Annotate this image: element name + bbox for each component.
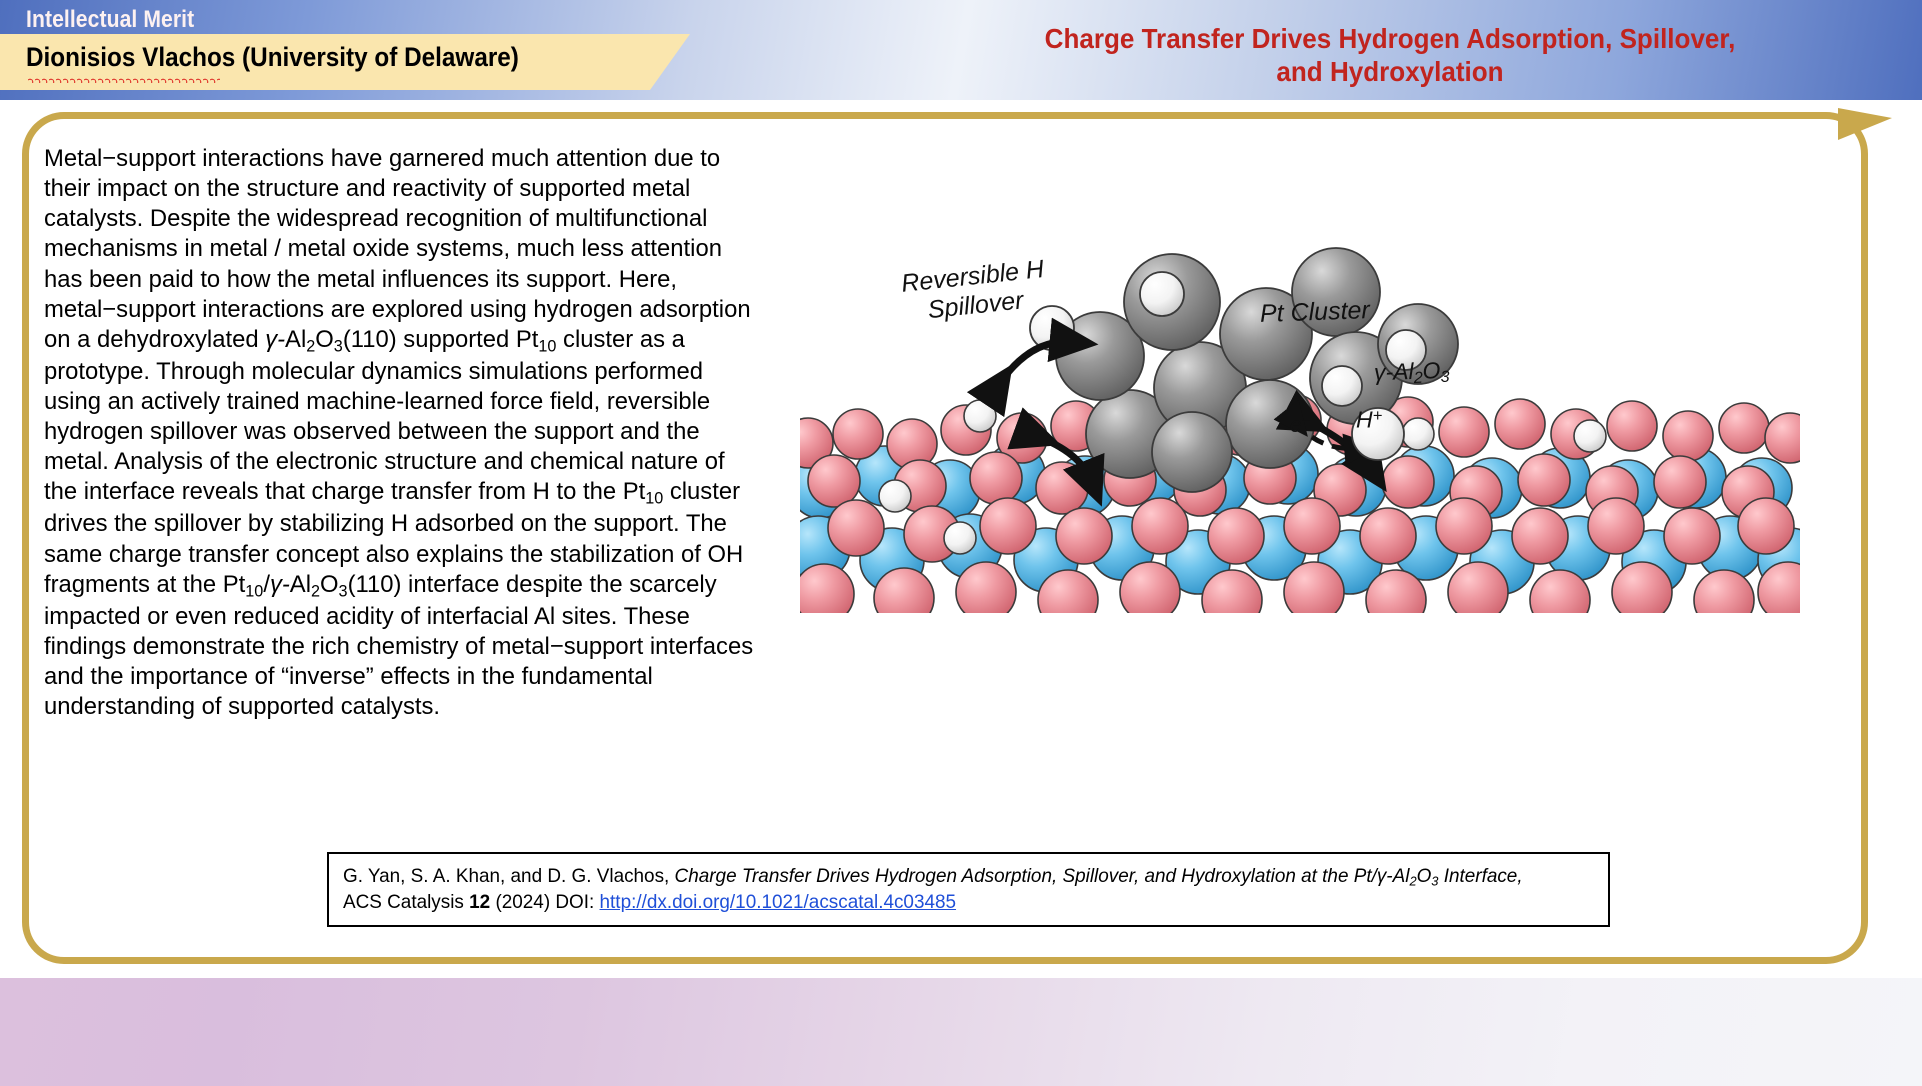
page-title-line-2: and Hydroxylation <box>1276 56 1503 87</box>
abstract-gamma-1: γ- <box>265 326 285 353</box>
doi-link[interactable]: http://dx.doi.org/10.1021/acscatal.4c034… <box>600 891 956 913</box>
citation-volume: 12 <box>469 891 490 913</box>
citation-title-o: O <box>1417 865 1432 887</box>
citation-title-b: Interface, <box>1438 865 1522 887</box>
citation-year: (2024) DOI: <box>490 891 599 913</box>
abstract-o-2: O <box>320 571 339 598</box>
abstract-o-sub-2: 3 <box>339 582 348 600</box>
citation-text: G. Yan, S. A. Khan, and D. G. Vlachos, C… <box>343 864 1558 916</box>
abstract-pt-sub-2: 10 <box>645 490 663 508</box>
pi-name-label: Dionisios Vlachos (University of Delawar… <box>26 42 519 73</box>
citation-journal: ACS Catalysis <box>343 891 469 913</box>
abstract-al-sub-2: 2 <box>311 582 320 600</box>
abstract-part-1: Metal−support interactions have garnered… <box>44 145 751 353</box>
abstract-al: Al <box>285 326 306 353</box>
abstract-text: Metal−support interactions have garnered… <box>44 144 755 722</box>
proton-sphere <box>1352 408 1404 460</box>
poster-slide: Intellectual Merit Dionisios Vlachos (Un… <box>0 0 1922 1086</box>
abstract-o: O <box>315 326 334 353</box>
header-banner: Intellectual Merit Dionisios Vlachos (Un… <box>0 0 1922 100</box>
spellcheck-squiggle <box>28 76 220 83</box>
citation-authors: G. Yan, S. A. Khan, and D. G. Vlachos, <box>343 865 675 887</box>
frame-arrow-icon <box>1838 108 1892 140</box>
footer-bar: NSF DMREF MATERIALS FOR OUR FUTURE Desig… <box>0 978 1922 1086</box>
intellectual-merit-label: Intellectual Merit <box>26 6 194 34</box>
citation-title-al: Al <box>1393 865 1410 887</box>
citation-title-a: Charge Transfer Drives Hydrogen Adsorpti… <box>675 865 1377 887</box>
abstract-al-2: Al <box>290 571 311 598</box>
citation-box: G. Yan, S. A. Khan, and D. G. Vlachos, C… <box>327 852 1610 927</box>
citation-title-gamma: γ- <box>1377 865 1393 887</box>
toc-figure: Reversible H Spillover Pt Cluster γ-Al2O… <box>800 238 1800 613</box>
support-slab-lower <box>800 498 1800 613</box>
abstract-part-1b: (110) supported Pt <box>343 326 539 353</box>
abstract-pt-sub-3: 10 <box>245 582 263 600</box>
page-title: Charge Transfer Drives Hydrogen Adsorpti… <box>934 22 1845 88</box>
abstract-gamma-2: γ- <box>270 571 290 598</box>
figure-svg <box>800 238 1800 613</box>
abstract-pt-sub-1: 10 <box>538 337 556 355</box>
citation-title-sub-1: 2 <box>1409 874 1416 889</box>
page-title-line-1: Charge Transfer Drives Hydrogen Adsorpti… <box>1045 23 1736 54</box>
